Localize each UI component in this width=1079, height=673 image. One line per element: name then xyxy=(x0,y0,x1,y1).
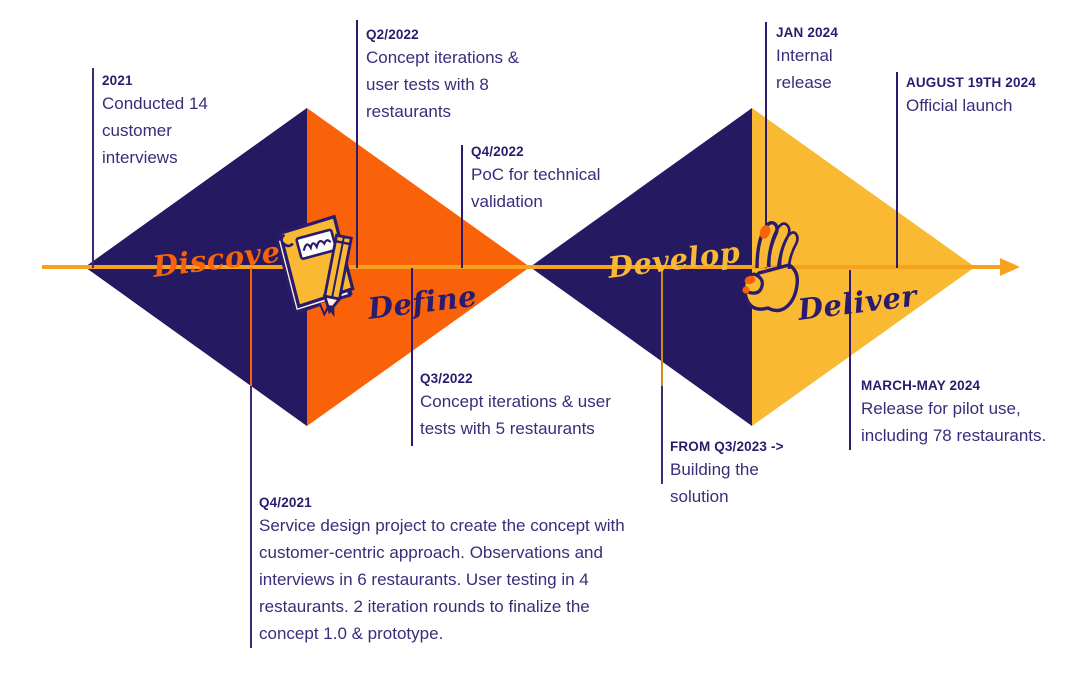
milestone-date: Q3/2022 xyxy=(420,370,645,387)
milestone-body: Building the solution xyxy=(670,456,810,510)
connector-2021 xyxy=(92,68,94,268)
milestone-body: Concept iterations & user tests with 5 r… xyxy=(420,388,645,442)
milestone-date: JAN 2024 xyxy=(776,24,886,41)
timeline-axis-arrow-icon xyxy=(1000,258,1020,276)
milestone-date: MARCH-MAY 2024 xyxy=(861,377,1061,394)
connector-q4-2022 xyxy=(461,145,463,268)
milestone-body: PoC for technical validation xyxy=(471,161,631,215)
milestone-aug-2024: AUGUST 19TH 2024 Official launch xyxy=(906,74,1056,119)
milestone-body: Official launch xyxy=(906,92,1056,119)
milestone-date: 2021 xyxy=(102,72,228,89)
notebook-pencil-illustration xyxy=(262,208,372,328)
hand-pinch-illustration xyxy=(720,212,810,322)
milestone-q2-2022: Q2/2022 Concept iterations & user tests … xyxy=(366,26,556,125)
milestone-q3-2023: FROM Q3/2023 -> Building the solution xyxy=(670,438,810,510)
milestone-date: Q4/2021 xyxy=(259,494,651,511)
milestone-q4-2021: Q4/2021 Service design project to create… xyxy=(259,494,651,647)
milestone-body: Conducted 14 customer interviews xyxy=(102,90,228,171)
milestone-body: Release for pilot use, including 78 rest… xyxy=(861,395,1061,449)
connector-q3-2023 xyxy=(661,386,663,484)
milestone-q4-2022: Q4/2022 PoC for technical validation xyxy=(471,143,631,215)
milestone-body: Internal release xyxy=(776,42,886,96)
connector-q4-2021 xyxy=(250,386,252,648)
milestone-date: Q2/2022 xyxy=(366,26,556,43)
milestone-body: Service design project to create the con… xyxy=(259,512,651,647)
connector-q4-2021-inner xyxy=(250,268,252,388)
milestone-jan-2024: JAN 2024 Internal release xyxy=(776,24,886,96)
connector-q3-2023-inner xyxy=(661,268,663,388)
milestone-q3-2022: Q3/2022 Concept iterations & user tests … xyxy=(420,370,645,442)
milestone-date: FROM Q3/2023 -> xyxy=(670,438,810,455)
timeline-diagram: Discover Define Develop Deliver xyxy=(0,0,1079,673)
connector-aug-2024 xyxy=(896,72,898,268)
milestone-date: Q4/2022 xyxy=(471,143,631,160)
milestone-2021: 2021 Conducted 14 customer interviews xyxy=(102,72,228,171)
milestone-body: Concept iterations & user tests with 8 r… xyxy=(366,44,556,125)
milestone-date: AUGUST 19TH 2024 xyxy=(906,74,1056,91)
milestone-mar-may-2024: MARCH-MAY 2024 Release for pilot use, in… xyxy=(861,377,1061,449)
